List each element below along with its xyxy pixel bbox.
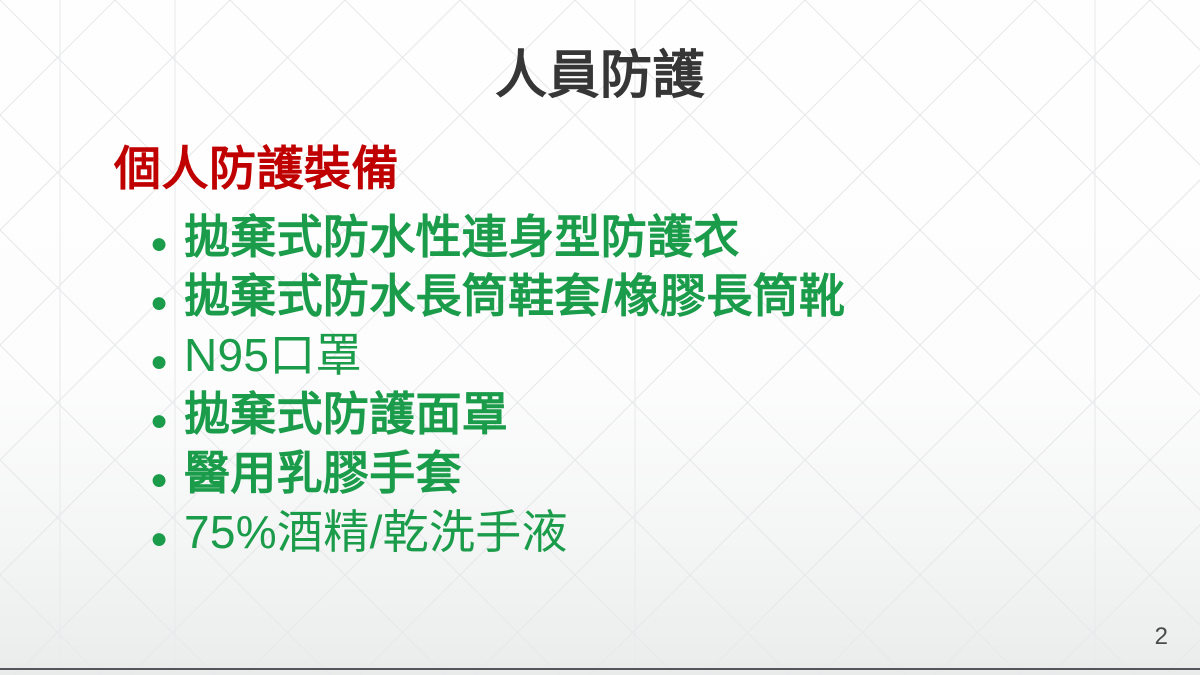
list-item-label: 75%酒精/乾洗手液 — [184, 503, 568, 562]
bullet-dot-icon: ● — [150, 273, 184, 332]
list-item-label: 醫用乳膠手套 — [184, 444, 462, 503]
list-item-label: N95口罩 — [184, 326, 362, 385]
section-heading: 個人防護裝備 — [114, 143, 399, 196]
list-item-label: 拋棄式防護面罩 — [184, 385, 508, 444]
list-item-label: 拋棄式防水性連身型防護衣 — [184, 208, 740, 267]
bullet-dot-icon: ● — [150, 509, 184, 568]
slide-bottom-rule — [0, 668, 1200, 670]
list-item-label: 拋棄式防水長筒鞋套/橡膠長筒靴 — [184, 267, 845, 326]
slide-title: 人員防護 — [0, 48, 1200, 105]
bullet-dot-icon: ● — [150, 332, 184, 391]
bullet-dot-icon: ● — [150, 450, 184, 509]
list-item: ● 75%酒精/乾洗手液 — [150, 503, 845, 562]
list-item: ● 拋棄式防水性連身型防護衣 — [150, 208, 845, 267]
presentation-slide: 人員防護 個人防護裝備 ● 拋棄式防水性連身型防護衣 ● 拋棄式防水長筒鞋套/橡… — [0, 0, 1200, 675]
ppe-bullet-list: ● 拋棄式防水性連身型防護衣 ● 拋棄式防水長筒鞋套/橡膠長筒靴 ● N95口罩… — [150, 208, 845, 562]
list-item: ● 醫用乳膠手套 — [150, 444, 845, 503]
page-number: 2 — [1155, 625, 1168, 649]
list-item: ● N95口罩 — [150, 326, 845, 385]
list-item: ● 拋棄式防水長筒鞋套/橡膠長筒靴 — [150, 267, 845, 326]
bullet-dot-icon: ● — [150, 214, 184, 273]
list-item: ● 拋棄式防護面罩 — [150, 385, 845, 444]
bullet-dot-icon: ● — [150, 391, 184, 450]
